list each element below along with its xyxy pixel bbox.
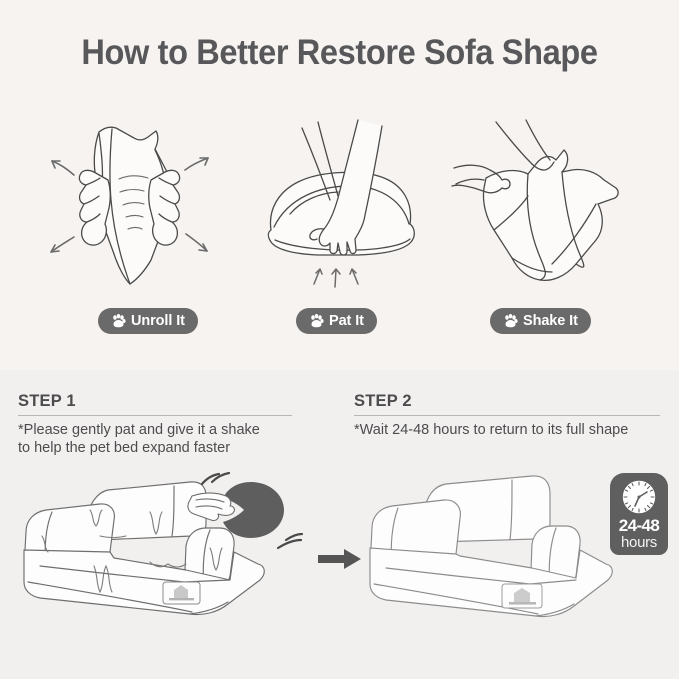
brand-tag-icon (502, 584, 542, 608)
hands-unrolling-cover-icon (38, 112, 248, 302)
upward-arrows-icon (314, 269, 358, 287)
step-2-title: STEP 2 (354, 392, 660, 411)
pet-bed-wrinkled-icon (14, 462, 324, 632)
step-2: STEP 2 *Wait 24-48 hours to return to it… (354, 392, 660, 439)
badge-label: Pat It (329, 313, 364, 329)
badge-label: Unroll It (131, 313, 185, 329)
step-2-description: *Wait 24-48 hours to return to its full … (354, 421, 660, 439)
transition-arrow (316, 547, 364, 571)
step-1-divider (18, 415, 292, 416)
paw-icon (503, 314, 518, 328)
method-badge-row: Unroll It Pat It Shake It (0, 308, 679, 336)
infographic-page: How to Better Restore Sofa Shape (0, 0, 679, 679)
badge-pat[interactable]: Pat It (296, 308, 377, 334)
badge-shake[interactable]: Shake It (490, 308, 591, 334)
page-title: How to Better Restore Sofa Shape (24, 33, 655, 73)
pat-illustration (258, 112, 438, 302)
shake-illustration (444, 112, 644, 302)
step-1: STEP 1 *Please gently pat and give it a … (18, 392, 292, 457)
duration-badge: 24-48 hours (610, 473, 668, 555)
unroll-illustration (38, 112, 248, 302)
step-1-description: *Please gently pat and give it a shake t… (18, 421, 292, 457)
duration-value: 24-48 (610, 517, 668, 535)
paw-icon (111, 314, 126, 328)
duration-unit: hours (610, 535, 668, 551)
step-2-divider (354, 415, 660, 416)
badge-unroll[interactable]: Unroll It (98, 308, 198, 334)
clock-icon (619, 477, 659, 517)
method-illustration-row (0, 112, 679, 302)
brand-tag-icon (163, 582, 200, 604)
step-1-title: STEP 1 (18, 392, 292, 411)
hands-patting-cushion-icon (258, 112, 438, 302)
paw-icon (309, 314, 324, 328)
arrow-right-icon (316, 547, 364, 571)
hands-shaking-cover-icon (444, 112, 644, 302)
badge-label: Shake It (523, 313, 578, 329)
wrinkled-pet-bed (14, 462, 324, 632)
